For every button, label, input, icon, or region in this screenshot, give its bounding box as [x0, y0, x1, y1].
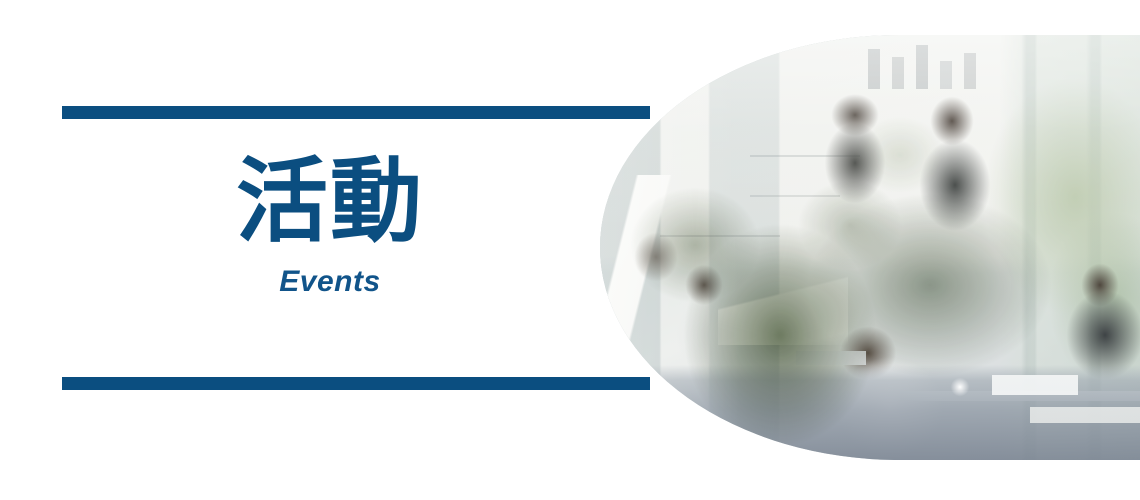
hero-photo [600, 35, 1140, 460]
top-rule [62, 106, 650, 119]
title-block: 活動 Events [0, 150, 660, 299]
page-subtitle: Events [0, 265, 660, 299]
bottom-rule [62, 377, 650, 390]
events-banner: 活動 Events [0, 0, 1140, 500]
hero-photo-image [600, 35, 1140, 460]
photo-layer-haze [600, 35, 1140, 460]
page-title: 活動 [0, 150, 660, 253]
